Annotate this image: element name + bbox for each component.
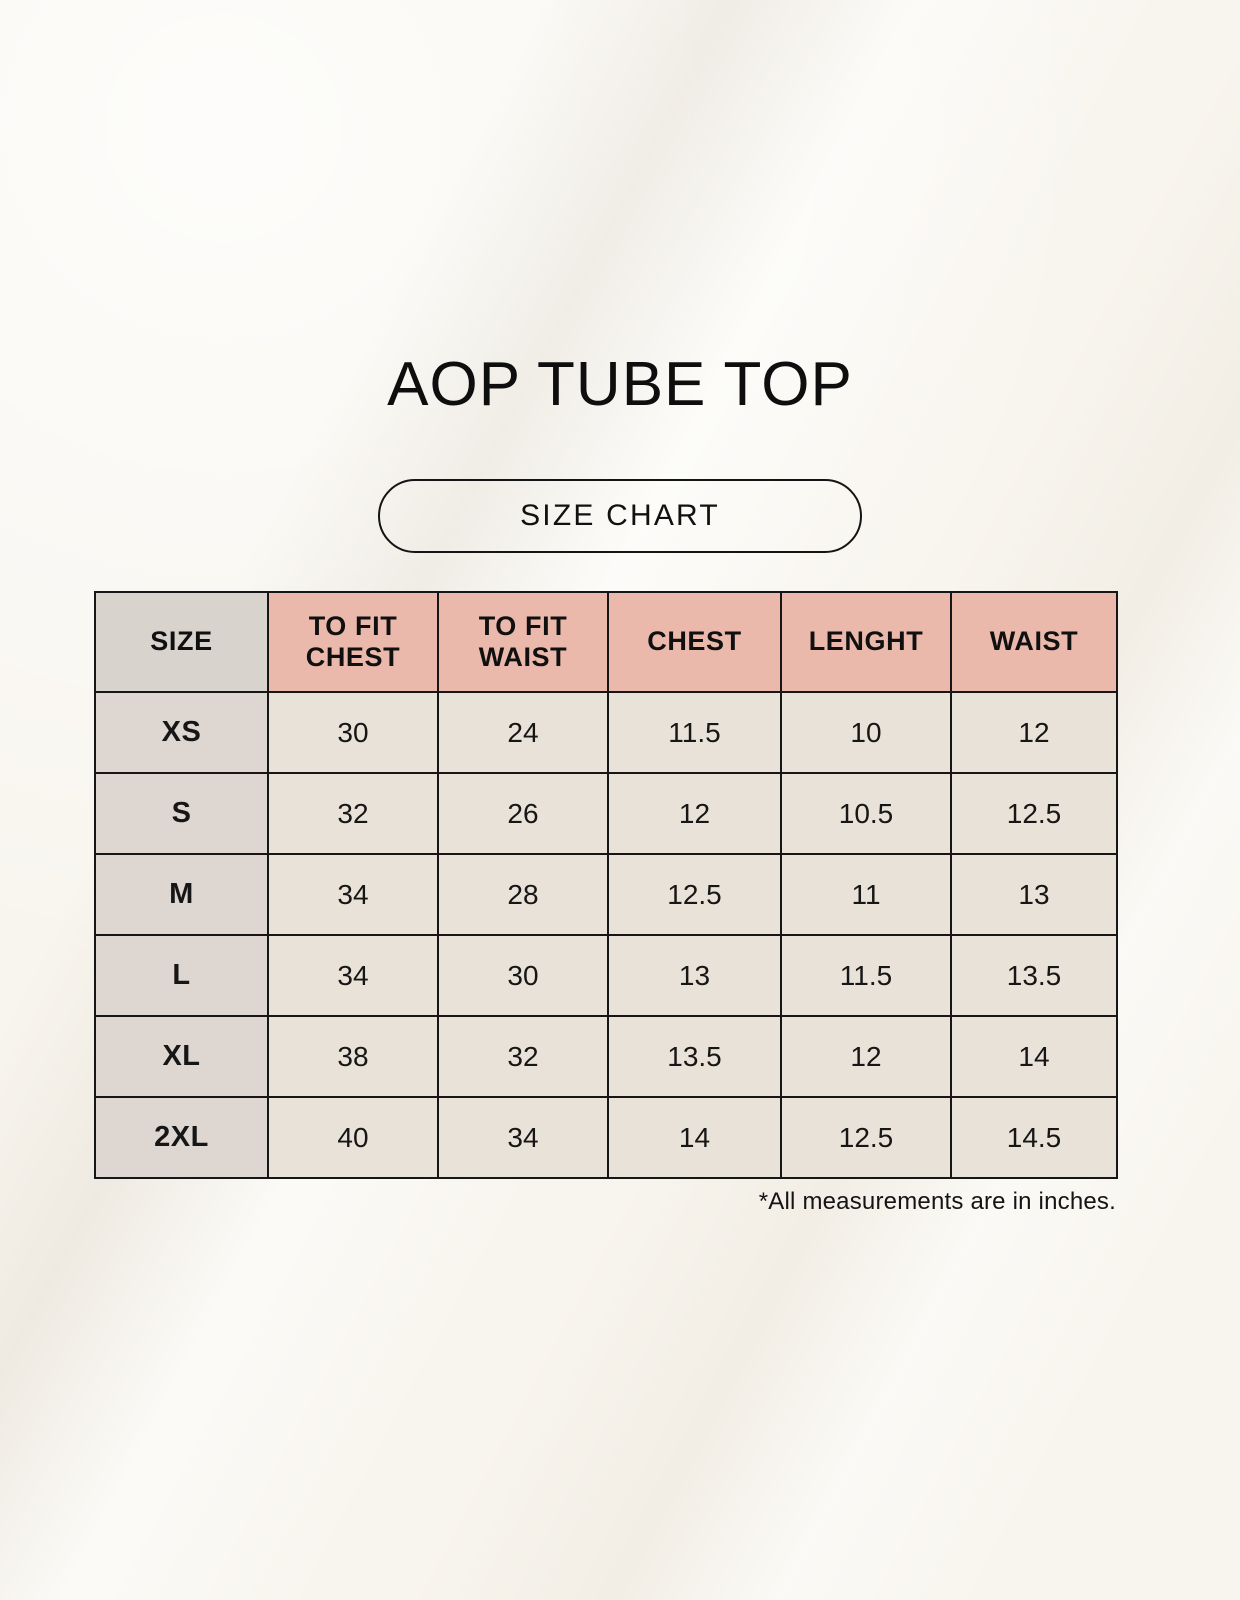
measurement-cell: 34 — [268, 854, 438, 935]
measurement-cell: 11.5 — [781, 935, 951, 1016]
measurement-cell: 12.5 — [951, 773, 1117, 854]
table-row: S32261210.512.5 — [95, 773, 1117, 854]
size-chart-badge: SIZE CHART — [378, 479, 862, 553]
measurement-cell: 12.5 — [608, 854, 781, 935]
measurement-cell: 13 — [951, 854, 1117, 935]
table-body: XS302411.51012S32261210.512.5M342812.511… — [95, 692, 1117, 1178]
size-label-cell: S — [95, 773, 268, 854]
size-chart-sheet: AOP TUBE TOP SIZE CHART SIZE TO FITCHEST… — [0, 0, 1240, 1600]
measurement-cell: 13 — [608, 935, 781, 1016]
column-header-line: WAIST — [479, 642, 568, 672]
size-label-cell: 2XL — [95, 1097, 268, 1178]
measurement-cell: 10 — [781, 692, 951, 773]
table-row: XS302411.51012 — [95, 692, 1117, 773]
column-header-line: SIZE — [150, 626, 212, 656]
measurement-cell: 12 — [951, 692, 1117, 773]
column-header-line: TO FIT — [479, 611, 568, 641]
column-header-to-fit-chest: TO FITCHEST — [268, 592, 438, 692]
measurement-cell: 14 — [951, 1016, 1117, 1097]
measurement-cell: 24 — [438, 692, 608, 773]
column-header-to-fit-waist: TO FITWAIST — [438, 592, 608, 692]
measurement-cell: 30 — [268, 692, 438, 773]
measurement-cell: 11 — [781, 854, 951, 935]
size-chart-badge-container: SIZE CHART — [0, 479, 1240, 553]
measurement-cell: 11.5 — [608, 692, 781, 773]
measurements-footnote: *All measurements are in inches. — [94, 1188, 1116, 1216]
size-chart-table-container: SIZE TO FITCHEST TO FITWAIST CHEST LENGH… — [94, 591, 1116, 1179]
measurement-cell: 26 — [438, 773, 608, 854]
table-row: M342812.51113 — [95, 854, 1117, 935]
measurement-cell: 30 — [438, 935, 608, 1016]
column-header-line: TO FIT — [309, 611, 398, 641]
table-row: 2XL40341412.514.5 — [95, 1097, 1117, 1178]
measurement-cell: 13.5 — [951, 935, 1117, 1016]
column-header-line: WAIST — [990, 626, 1079, 656]
measurement-cell: 10.5 — [781, 773, 951, 854]
measurement-cell: 14.5 — [951, 1097, 1117, 1178]
column-header-size: SIZE — [95, 592, 268, 692]
column-header-line: CHEST — [647, 626, 742, 656]
measurement-cell: 40 — [268, 1097, 438, 1178]
measurement-cell: 13.5 — [608, 1016, 781, 1097]
measurement-cell: 32 — [268, 773, 438, 854]
measurement-cell: 28 — [438, 854, 608, 935]
page-title: AOP TUBE TOP — [0, 352, 1240, 417]
size-label-cell: M — [95, 854, 268, 935]
column-header-lenght: LENGHT — [781, 592, 951, 692]
size-label-cell: XS — [95, 692, 268, 773]
size-label-cell: L — [95, 935, 268, 1016]
size-chart-table: SIZE TO FITCHEST TO FITWAIST CHEST LENGH… — [94, 591, 1118, 1179]
column-header-line: CHEST — [306, 642, 401, 672]
column-header-chest: CHEST — [608, 592, 781, 692]
table-header-row: SIZE TO FITCHEST TO FITWAIST CHEST LENGH… — [95, 592, 1117, 692]
size-label-cell: XL — [95, 1016, 268, 1097]
measurement-cell: 12.5 — [781, 1097, 951, 1178]
measurement-cell: 34 — [438, 1097, 608, 1178]
measurement-cell: 38 — [268, 1016, 438, 1097]
measurement-cell: 34 — [268, 935, 438, 1016]
measurement-cell: 12 — [608, 773, 781, 854]
measurement-cell: 14 — [608, 1097, 781, 1178]
measurement-cell: 12 — [781, 1016, 951, 1097]
table-row: XL383213.51214 — [95, 1016, 1117, 1097]
table-header: SIZE TO FITCHEST TO FITWAIST CHEST LENGH… — [95, 592, 1117, 692]
measurement-cell: 32 — [438, 1016, 608, 1097]
table-row: L34301311.513.5 — [95, 935, 1117, 1016]
column-header-waist: WAIST — [951, 592, 1117, 692]
column-header-line: LENGHT — [809, 626, 924, 656]
